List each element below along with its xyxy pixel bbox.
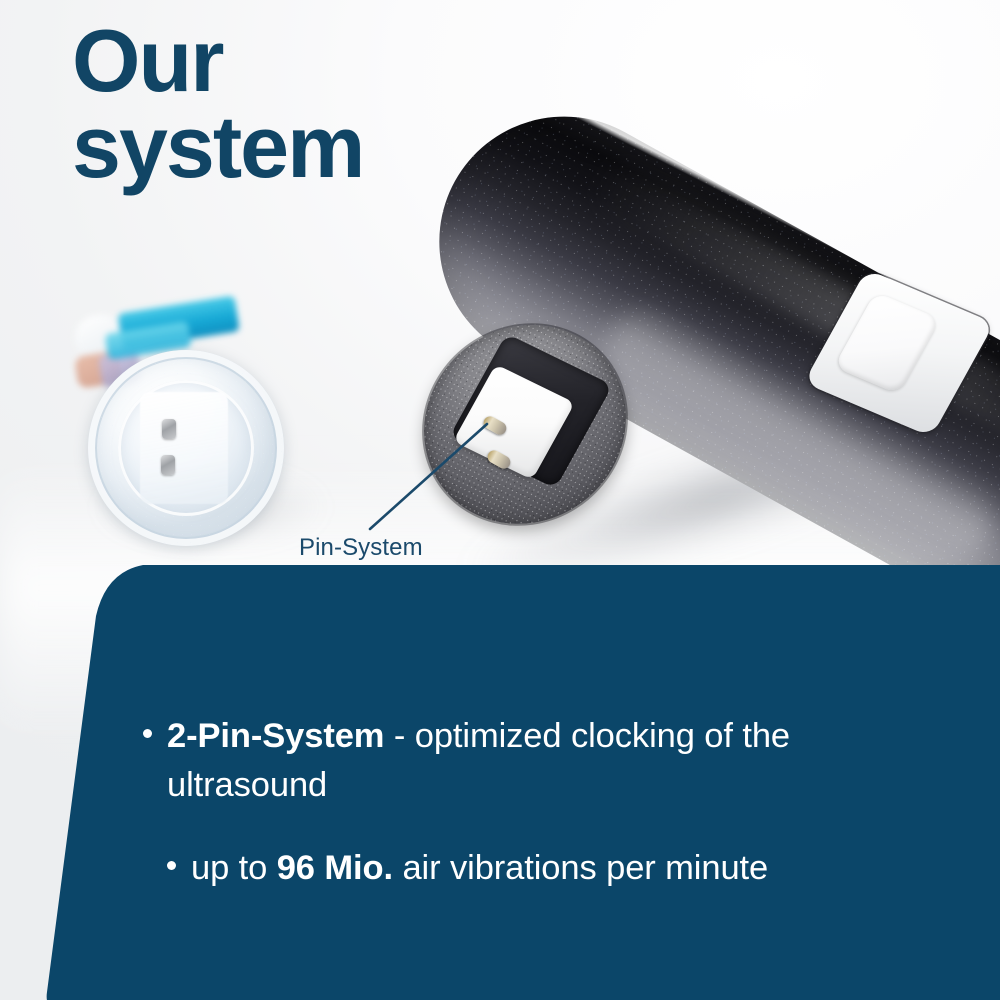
bullet-dot-icon [143, 729, 152, 738]
feature-2-rest: air vibrations per minute [393, 849, 768, 887]
feature-text-2: up to 96 Mio. air vibrations per minute [191, 844, 803, 893]
feature-text-1: 2-Pin-System - optimized clocking of the… [167, 712, 803, 810]
list-item: up to 96 Mio. air vibrations per minute [167, 844, 803, 893]
page-title: Our system [72, 18, 492, 190]
callout-label-pin-system: Pin-System [299, 534, 423, 562]
list-item: 2-Pin-System - optimized clocking of the… [143, 712, 803, 810]
promo-graphic: Our system [0, 0, 1000, 1000]
bullet-dot-icon [167, 861, 176, 870]
feature-2-bold: 96 Mio. [277, 849, 393, 887]
feature-1-bold: 2-Pin-System [167, 717, 384, 755]
feature-list: 2-Pin-System - optimized clocking of the… [143, 712, 803, 893]
feature-2-lead: up to [191, 849, 277, 887]
